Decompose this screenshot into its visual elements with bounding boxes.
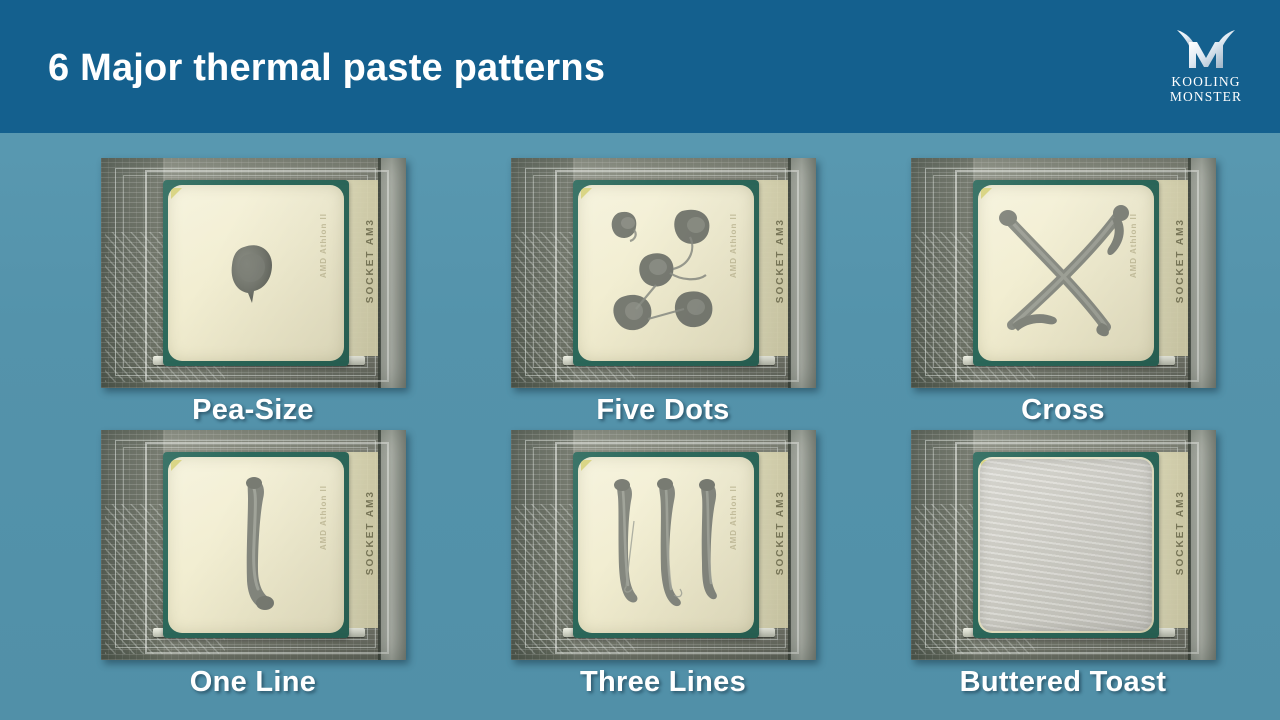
paste-pattern-cross — [978, 185, 1154, 361]
pattern-caption-buttered-toast: Buttered Toast — [858, 666, 1268, 699]
socket-label: SOCKET AM3 — [1175, 490, 1186, 575]
pattern-photo-buttered-toast: SOCKET AM3 — [911, 430, 1216, 660]
pattern-caption-five-dots: Five Dots — [458, 394, 868, 427]
page-title: 6 Major thermal paste patterns — [48, 48, 605, 88]
pattern-card-buttered-toast[interactable]: SOCKET AM3 Buttered Toast — [858, 430, 1268, 699]
socket-label: SOCKET AM3 — [1175, 218, 1186, 303]
paste-pattern-one-line — [168, 457, 344, 633]
pattern-card-cross[interactable]: SOCKET AM3 AMD Athlon II — [858, 158, 1268, 427]
pattern-photo-three-lines: SOCKET AM3 AMD Athlon II — [511, 430, 816, 660]
pattern-card-five-dots[interactable]: SOCKET AM3 AMD Athlon II — [458, 158, 868, 427]
logo-line-1: KOOLING — [1170, 74, 1242, 89]
paste-pattern-five-dots — [578, 185, 754, 361]
pattern-grid: SOCKET AM3 AMD Athlon II — [0, 133, 1280, 720]
pattern-card-pea-size[interactable]: SOCKET AM3 AMD Athlon II — [48, 158, 458, 427]
socket-label: SOCKET AM3 — [775, 218, 786, 303]
pattern-photo-pea-size: SOCKET AM3 AMD Athlon II — [101, 158, 406, 388]
socket-label: SOCKET AM3 — [775, 490, 786, 575]
pattern-photo-five-dots: SOCKET AM3 AMD Athlon II — [511, 158, 816, 388]
socket-label: SOCKET AM3 — [365, 218, 376, 303]
paste-pattern-three-lines — [578, 457, 754, 633]
pattern-caption-three-lines: Three Lines — [458, 666, 868, 699]
logo-wordmark: KOOLING MONSTER — [1170, 74, 1242, 104]
pattern-card-one-line[interactable]: SOCKET AM3 AMD Athlon II — [48, 430, 458, 699]
horned-monster-m-icon — [1173, 28, 1239, 72]
paste-pattern-pea-size — [168, 185, 344, 361]
pattern-caption-cross: Cross — [858, 394, 1268, 427]
slide: 6 Major thermal paste patterns K — [0, 0, 1280, 720]
pattern-caption-one-line: One Line — [48, 666, 458, 699]
pattern-card-three-lines[interactable]: SOCKET AM3 AMD Athlon II — [458, 430, 868, 699]
brand-logo: KOOLING MONSTER — [1156, 28, 1256, 108]
socket-label: SOCKET AM3 — [365, 490, 376, 575]
pattern-photo-one-line: SOCKET AM3 AMD Athlon II — [101, 430, 406, 660]
header-bar: 6 Major thermal paste patterns K — [0, 0, 1280, 133]
pattern-caption-pea-size: Pea-Size — [48, 394, 458, 427]
logo-line-2: MONSTER — [1170, 89, 1242, 104]
pattern-photo-cross: SOCKET AM3 AMD Athlon II — [911, 158, 1216, 388]
paste-pattern-buttered-toast — [978, 457, 1154, 633]
